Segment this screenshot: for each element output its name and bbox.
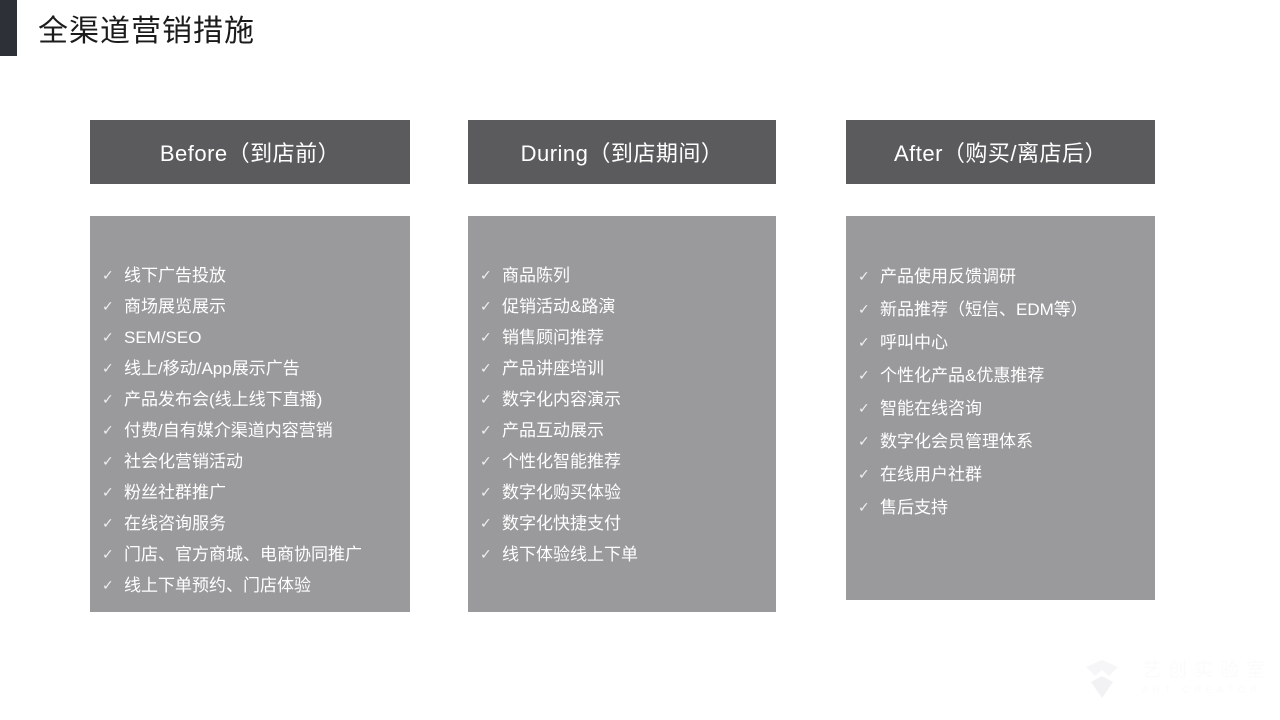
list-item: ✓智能在线咨询 bbox=[858, 392, 1147, 425]
stage-column-after: After（购买/离店后） ✓产品使用反馈调研 ✓新品推荐（短信、EDM等） ✓… bbox=[846, 120, 1155, 600]
list-item-label: 产品使用反馈调研 bbox=[880, 260, 1147, 293]
stage-header-before-label: Before（到店前） bbox=[160, 136, 340, 168]
list-item: ✓线上下单预约、门店体验 bbox=[102, 570, 402, 601]
list-item-label: 在线咨询服务 bbox=[124, 508, 402, 539]
list-item: ✓个性化智能推荐 bbox=[480, 446, 768, 477]
check-icon: ✓ bbox=[102, 322, 124, 353]
list-item: ✓产品讲座培训 bbox=[480, 353, 768, 384]
stage-header-after: After（购买/离店后） bbox=[846, 120, 1155, 184]
check-icon: ✓ bbox=[480, 446, 502, 477]
stage-column-during: During（到店期间） ✓商品陈列 ✓促销活动&路演 ✓销售顾问推荐 ✓产品讲… bbox=[468, 120, 776, 612]
list-item-label: 新品推荐（短信、EDM等） bbox=[880, 293, 1147, 326]
list-item-label: 商场展览展示 bbox=[124, 291, 402, 322]
stage-column-before: Before（到店前） ✓线下广告投放 ✓商场展览展示 ✓SEM/SEO ✓线上… bbox=[90, 120, 410, 612]
list-item-label: 产品互动展示 bbox=[502, 415, 768, 446]
list-item: ✓销售顾问推荐 bbox=[480, 322, 768, 353]
check-icon: ✓ bbox=[480, 291, 502, 322]
list-item-label: 数字化购买体验 bbox=[502, 477, 768, 508]
check-icon: ✓ bbox=[858, 326, 880, 359]
list-item-label: 产品讲座培训 bbox=[502, 353, 768, 384]
check-icon: ✓ bbox=[102, 446, 124, 477]
measure-list-during: ✓商品陈列 ✓促销活动&路演 ✓销售顾问推荐 ✓产品讲座培训 ✓数字化内容演示 … bbox=[468, 260, 776, 570]
stage-header-during: During（到店期间） bbox=[468, 120, 776, 184]
check-icon: ✓ bbox=[480, 353, 502, 384]
list-item: ✓社会化营销活动 bbox=[102, 446, 402, 477]
measure-list-after: ✓产品使用反馈调研 ✓新品推荐（短信、EDM等） ✓呼叫中心 ✓个性化产品&优惠… bbox=[846, 260, 1155, 524]
stage-body-before: ✓线下广告投放 ✓商场展览展示 ✓SEM/SEO ✓线上/移动/App展示广告 … bbox=[90, 216, 410, 612]
list-item-label: 数字化会员管理体系 bbox=[880, 425, 1147, 458]
list-item-label: 门店、官方商城、电商协同推广 bbox=[124, 539, 402, 570]
list-item: ✓门店、官方商城、电商协同推广 bbox=[102, 539, 402, 570]
list-item-label: 数字化快捷支付 bbox=[502, 508, 768, 539]
list-item: ✓线下广告投放 bbox=[102, 260, 402, 291]
check-icon: ✓ bbox=[480, 384, 502, 415]
list-item-label: 商品陈列 bbox=[502, 260, 768, 291]
list-item-label: 智能在线咨询 bbox=[880, 392, 1147, 425]
list-item-label: SEM/SEO bbox=[124, 322, 402, 353]
list-item: ✓促销活动&路演 bbox=[480, 291, 768, 322]
list-item-label: 线下广告投放 bbox=[124, 260, 402, 291]
list-item: ✓在线用户社群 bbox=[858, 458, 1147, 491]
check-icon: ✓ bbox=[102, 415, 124, 446]
check-icon: ✓ bbox=[858, 260, 880, 293]
stage-header-during-label: During（到店期间） bbox=[521, 136, 724, 168]
check-icon: ✓ bbox=[858, 458, 880, 491]
check-icon: ✓ bbox=[102, 260, 124, 291]
list-item: ✓个性化产品&优惠推荐 bbox=[858, 359, 1147, 392]
check-icon: ✓ bbox=[480, 415, 502, 446]
check-icon: ✓ bbox=[480, 322, 502, 353]
check-icon: ✓ bbox=[480, 508, 502, 539]
check-icon: ✓ bbox=[102, 353, 124, 384]
list-item-label: 产品发布会(线上线下直播) bbox=[124, 384, 402, 415]
list-item-label: 粉丝社群推广 bbox=[124, 477, 402, 508]
check-icon: ✓ bbox=[480, 539, 502, 570]
list-item-label: 个性化智能推荐 bbox=[502, 446, 768, 477]
list-item: ✓产品互动展示 bbox=[480, 415, 768, 446]
list-item-label: 线上/移动/App展示广告 bbox=[124, 353, 402, 384]
list-item-label: 数字化内容演示 bbox=[502, 384, 768, 415]
list-item-label: 呼叫中心 bbox=[880, 326, 1147, 359]
stage-columns: Before（到店前） ✓线下广告投放 ✓商场展览展示 ✓SEM/SEO ✓线上… bbox=[0, 0, 1280, 720]
list-item: ✓在线咨询服务 bbox=[102, 508, 402, 539]
list-item: ✓数字化购买体验 bbox=[480, 477, 768, 508]
list-item-label: 付费/自有媒介渠道内容营销 bbox=[124, 415, 402, 446]
check-icon: ✓ bbox=[858, 392, 880, 425]
list-item: ✓新品推荐（短信、EDM等） bbox=[858, 293, 1147, 326]
check-icon: ✓ bbox=[102, 477, 124, 508]
stage-body-after: ✓产品使用反馈调研 ✓新品推荐（短信、EDM等） ✓呼叫中心 ✓个性化产品&优惠… bbox=[846, 216, 1155, 600]
check-icon: ✓ bbox=[102, 384, 124, 415]
stage-header-before: Before（到店前） bbox=[90, 120, 410, 184]
list-item-label: 售后支持 bbox=[880, 491, 1147, 524]
list-item: ✓售后支持 bbox=[858, 491, 1147, 524]
list-item-label: 促销活动&路演 bbox=[502, 291, 768, 322]
list-item: ✓商品陈列 bbox=[480, 260, 768, 291]
list-item-label: 销售顾问推荐 bbox=[502, 322, 768, 353]
check-icon: ✓ bbox=[480, 260, 502, 291]
list-item: ✓产品发布会(线上线下直播) bbox=[102, 384, 402, 415]
list-item-label: 在线用户社群 bbox=[880, 458, 1147, 491]
stage-body-during: ✓商品陈列 ✓促销活动&路演 ✓销售顾问推荐 ✓产品讲座培训 ✓数字化内容演示 … bbox=[468, 216, 776, 612]
list-item: ✓SEM/SEO bbox=[102, 322, 402, 353]
list-item: ✓数字化快捷支付 bbox=[480, 508, 768, 539]
stage-header-after-label: After（购买/离店后） bbox=[894, 136, 1107, 168]
list-item: ✓产品使用反馈调研 bbox=[858, 260, 1147, 293]
list-item: ✓线下体验线上下单 bbox=[480, 539, 768, 570]
list-item-label: 社会化营销活动 bbox=[124, 446, 402, 477]
list-item-label: 线下体验线上下单 bbox=[502, 539, 768, 570]
list-item: ✓付费/自有媒介渠道内容营销 bbox=[102, 415, 402, 446]
list-item: ✓呼叫中心 bbox=[858, 326, 1147, 359]
check-icon: ✓ bbox=[858, 425, 880, 458]
list-item: ✓线上/移动/App展示广告 bbox=[102, 353, 402, 384]
list-item: ✓数字化内容演示 bbox=[480, 384, 768, 415]
check-icon: ✓ bbox=[858, 359, 880, 392]
check-icon: ✓ bbox=[480, 477, 502, 508]
list-item-label: 线上下单预约、门店体验 bbox=[124, 570, 402, 601]
list-item: ✓数字化会员管理体系 bbox=[858, 425, 1147, 458]
check-icon: ✓ bbox=[102, 291, 124, 322]
list-item: ✓粉丝社群推广 bbox=[102, 477, 402, 508]
check-icon: ✓ bbox=[102, 570, 124, 601]
list-item: ✓商场展览展示 bbox=[102, 291, 402, 322]
check-icon: ✓ bbox=[858, 491, 880, 524]
check-icon: ✓ bbox=[102, 508, 124, 539]
list-item-label: 个性化产品&优惠推荐 bbox=[880, 359, 1147, 392]
check-icon: ✓ bbox=[102, 539, 124, 570]
check-icon: ✓ bbox=[858, 293, 880, 326]
measure-list-before: ✓线下广告投放 ✓商场展览展示 ✓SEM/SEO ✓线上/移动/App展示广告 … bbox=[90, 260, 410, 601]
